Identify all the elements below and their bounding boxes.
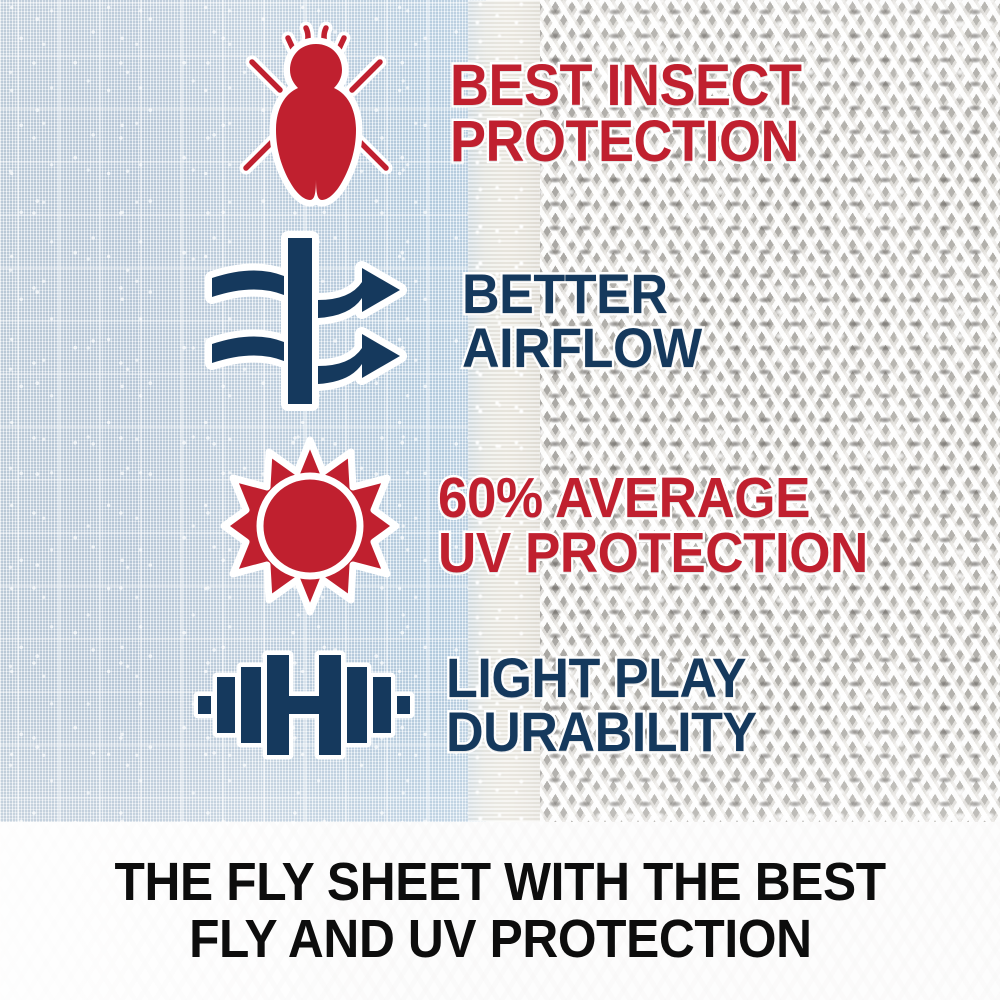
feature-list: BEST INSECT PROTECTION xyxy=(0,0,1000,822)
feature-item-insect: BEST INSECT PROTECTION xyxy=(228,18,828,208)
feature-label-insect: BEST INSECT PROTECTION xyxy=(450,58,802,171)
feature-label-durability: LIGHT PLAY DURABILITY xyxy=(446,651,757,760)
caption-line-1: THE FLY SHEET WITH THE BEST xyxy=(114,854,885,911)
feature-label-uv: 60% AVERAGE UV PROTECTION xyxy=(438,471,868,582)
sun-icon xyxy=(222,438,398,614)
fly-icon xyxy=(228,18,404,208)
feature-item-airflow: BETTER AIRFLOW xyxy=(200,238,720,404)
bottom-caption-band: THE FLY SHEET WITH THE BEST FLY AND UV P… xyxy=(0,822,1000,1000)
airflow-icon xyxy=(200,238,420,404)
feature-item-durability: LIGHT PLAY DURABILITY xyxy=(196,650,780,760)
product-feature-poster: BEST INSECT PROTECTION xyxy=(0,0,1000,1000)
dumbbell-icon xyxy=(196,650,412,760)
feature-label-airflow: BETTER AIRFLOW xyxy=(462,267,702,376)
caption-text: THE FLY SHEET WITH THE BEST FLY AND UV P… xyxy=(0,822,1000,1000)
caption-line-2: FLY AND UV PROTECTION xyxy=(189,911,812,968)
feature-item-uv: 60% AVERAGE UV PROTECTION xyxy=(222,438,900,614)
